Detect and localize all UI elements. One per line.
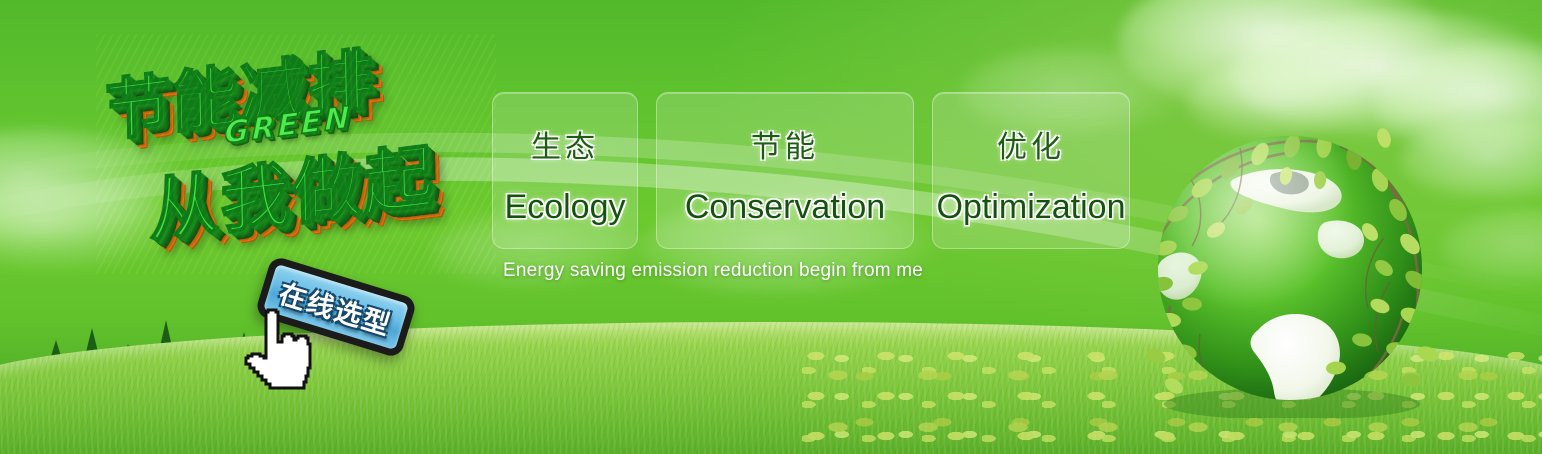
banner-tagline: Energy saving emission reduction begin f… [503,260,923,282]
feature-card-cn-label: 优化 [997,122,1065,166]
feature-card-ecology[interactable]: 生态 Ecology [492,92,638,249]
feature-card-en-label: Ecology [505,188,626,227]
feature-card-en-label: Conservation [685,188,885,227]
headline-3d: 节能减排 GREEN 从我做起 [96,34,496,274]
feature-card-cn-label: 节能 [751,122,819,166]
online-selection-cta[interactable]: 在线选型 [232,258,442,393]
leafy-earth-globe-icon [1140,118,1440,418]
feature-card-cn-label: 生态 [531,122,599,166]
feature-card-conservation[interactable]: 节能 Conservation [656,92,914,249]
feature-card-list: 生态 Ecology 节能 Conservation 优化 Optimizati… [492,92,1130,249]
feature-card-en-label: Optimization [937,188,1126,227]
green-promo-banner: 节能减排 GREEN 从我做起 在线选型 生态 Ecology 节能 Conse… [0,0,1542,454]
feature-card-optimization[interactable]: 优化 Optimization [932,92,1130,249]
pointing-hand-cursor-icon [238,306,316,392]
